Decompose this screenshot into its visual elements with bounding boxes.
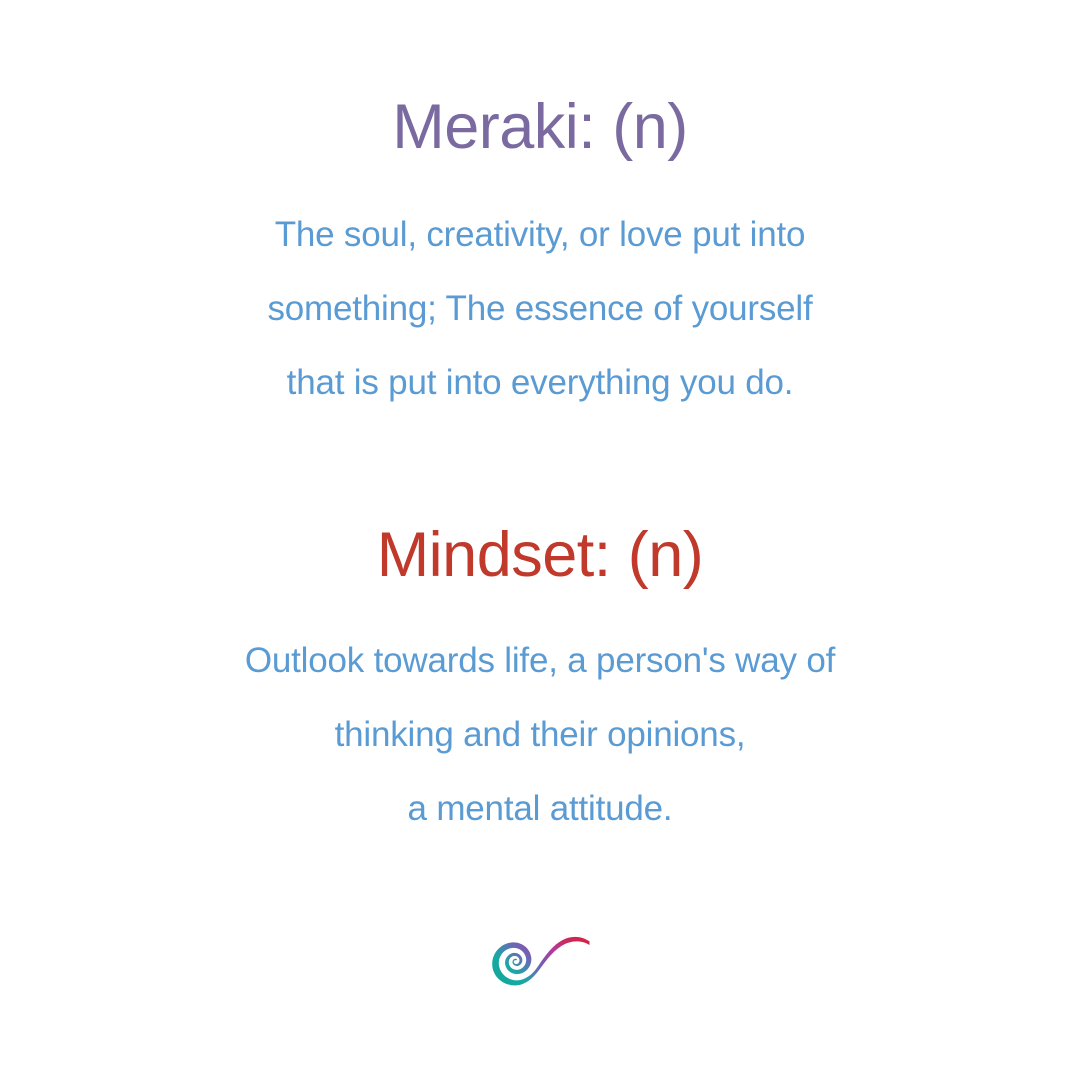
definition-line: The soul, creativity, or love put into [0, 198, 1080, 272]
term-heading-meraki: Meraki: (n) [0, 96, 1080, 159]
definition-line: thinking and their opinions, [0, 698, 1080, 772]
definition-line: a mental attitude. [0, 772, 1080, 846]
definition-entry-meraki: Meraki: (n) The soul, creativity, or lov… [0, 96, 1080, 420]
definition-line: Outlook towards life, a person's way of [0, 624, 1080, 698]
spiral-path [492, 937, 589, 986]
spiral-swirl-logo-icon [488, 932, 592, 994]
definition-text-mindset: Outlook towards life, a person's way of … [0, 624, 1080, 846]
definition-line: that is put into everything you do. [0, 346, 1080, 420]
term-heading-mindset: Mindset: (n) [0, 524, 1080, 587]
definition-line: something; The essence of yourself [0, 272, 1080, 346]
definition-entry-mindset: Mindset: (n) Outlook towards life, a per… [0, 524, 1080, 846]
logo-container [0, 930, 1080, 996]
definition-card: Meraki: (n) The soul, creativity, or lov… [0, 0, 1080, 1080]
definition-text-meraki: The soul, creativity, or love put into s… [0, 198, 1080, 420]
